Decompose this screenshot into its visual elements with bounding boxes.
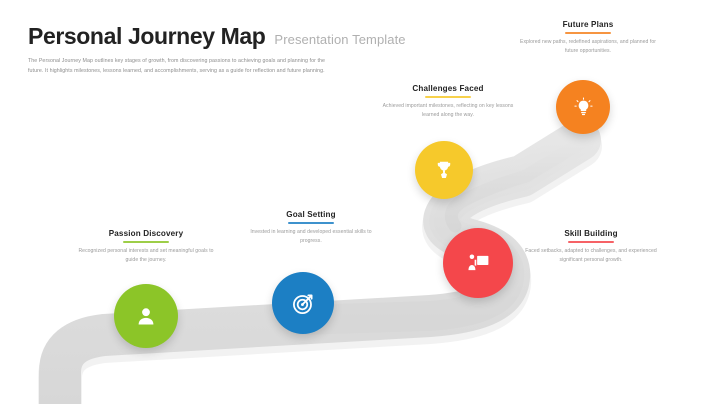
milestone-node-passion-discovery[interactable]: [114, 284, 178, 348]
milestone-title: Goal Setting: [244, 210, 378, 219]
milestone-node-challenges-faced[interactable]: [415, 141, 473, 199]
trophy-icon: [433, 159, 455, 181]
page-title: Personal Journey Map: [28, 24, 265, 48]
milestone-body: Recognized personal interests and set me…: [76, 247, 216, 266]
milestone-rule: [565, 32, 611, 34]
milestone-label-skill-building: Skill Building Faced setbacks, adapted t…: [521, 229, 661, 265]
presentation-icon: [465, 250, 491, 276]
milestone-label-future-plans: Future Plans Explored new paths, redefin…: [518, 20, 658, 56]
milestone-node-future-plans[interactable]: [556, 80, 610, 134]
milestone-title: Skill Building: [521, 229, 661, 238]
page-description: The Personal Journey Map outlines key st…: [28, 56, 328, 77]
milestone-rule: [288, 222, 334, 224]
slide-canvas: Personal Journey Map Presentation Templa…: [0, 0, 720, 404]
milestone-title: Future Plans: [518, 20, 658, 29]
milestone-label-goal-setting: Goal Setting Invested in learning and de…: [244, 210, 378, 246]
milestone-title: Passion Discovery: [76, 229, 216, 238]
milestone-body: Explored new paths, redefined aspiration…: [518, 38, 658, 57]
milestone-label-challenges-faced: Challenges Faced Achieved important mile…: [377, 84, 519, 120]
milestone-rule: [568, 241, 614, 243]
milestone-body: Achieved important milestones, reflectin…: [377, 102, 519, 121]
milestone-body: Faced setbacks, adapted to challenges, a…: [521, 247, 661, 266]
target-icon: [291, 291, 316, 316]
milestone-node-skill-building[interactable]: [443, 228, 513, 298]
milestone-label-passion-discovery: Passion Discovery Recognized personal in…: [76, 229, 216, 265]
milestone-rule: [425, 96, 471, 98]
page-subtitle: Presentation Template: [274, 32, 405, 47]
milestone-body: Invested in learning and developed essen…: [244, 228, 378, 247]
lightbulb-icon: [573, 97, 594, 118]
milestone-rule: [123, 241, 169, 243]
slide-header: Personal Journey Map Presentation Templa…: [28, 24, 448, 77]
milestone-title: Challenges Faced: [377, 84, 519, 93]
title-row: Personal Journey Map Presentation Templa…: [28, 24, 448, 48]
milestone-node-goal-setting[interactable]: [272, 272, 334, 334]
user-icon: [134, 304, 158, 328]
